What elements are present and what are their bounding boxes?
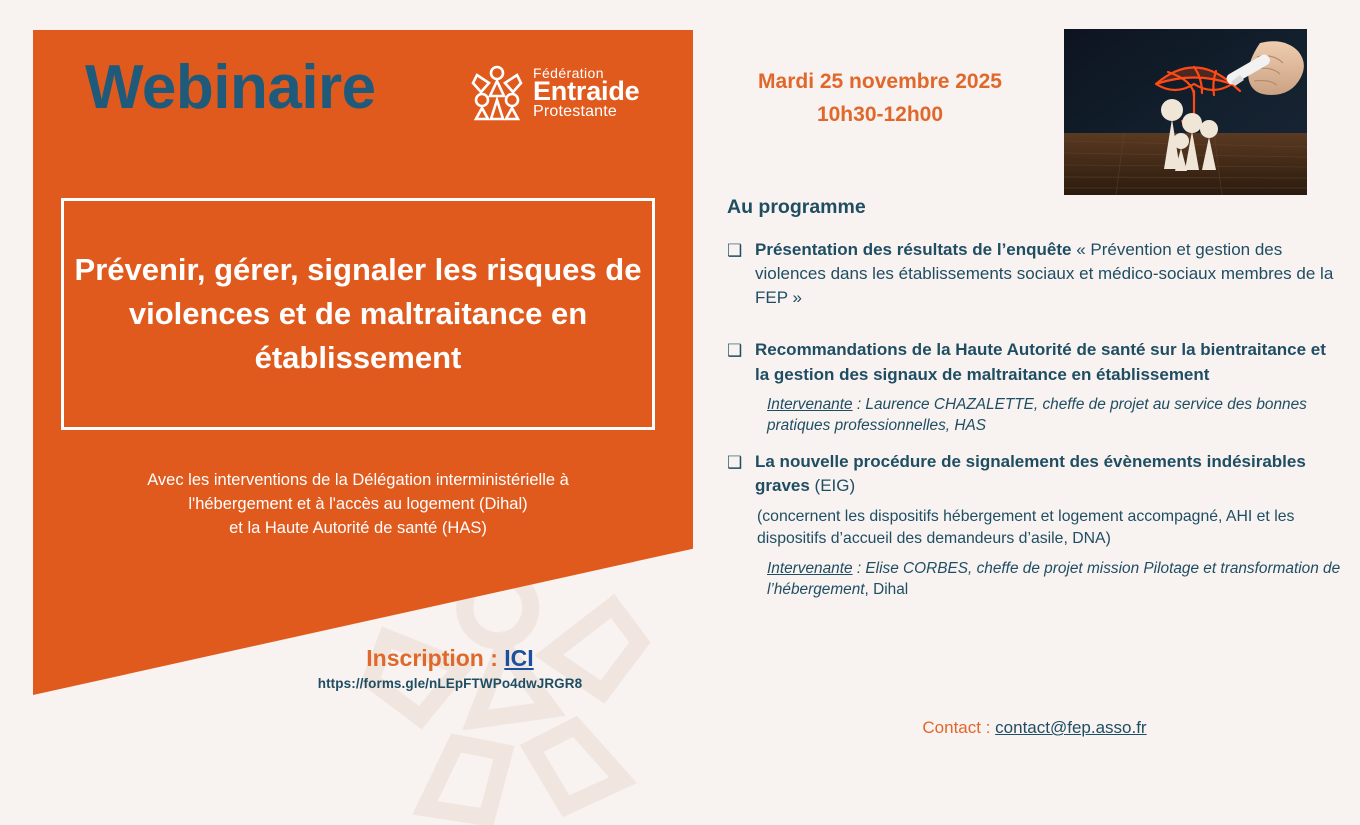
programme-item: ❑ Recommandations de la Haute Autorité d… — [727, 338, 1342, 386]
webinar-time: 10h30-12h00 — [700, 99, 1060, 132]
programme-item: ❑ Présentation des résultats de l’enquêt… — [727, 238, 1342, 310]
programme-item-text: Recommandations de la Haute Autorité de … — [755, 338, 1342, 386]
checkbox-icon: ❑ — [727, 450, 755, 475]
speaker-org: , Dihal — [865, 581, 909, 598]
intervention-note-line-2: l'hébergement et à l'accès au logement (… — [61, 492, 655, 516]
inscription-block: Inscription : ICI https://forms.gle/nLEp… — [260, 645, 640, 691]
intervention-note-line-3: et la Haute Autorité de santé (HAS) — [61, 516, 655, 540]
checkbox-icon: ❑ — [727, 338, 755, 363]
programme-speaker: Intervenante : Elise CORBES, cheffe de p… — [767, 558, 1342, 601]
left-panel-content: Webinaire Fédération Entraide Protestant… — [33, 30, 693, 695]
speaker-label: Intervenante — [767, 560, 853, 577]
webinar-headline: Prévenir, gérer, signaler les risques de… — [64, 248, 652, 380]
fep-logo-line-entraide: Entraide — [533, 78, 639, 106]
inscription-line: Inscription : ICI — [260, 645, 640, 673]
programme-section: Au programme ❑ Présentation des résultat… — [727, 196, 1342, 614]
programme-heading: Au programme — [727, 196, 1342, 219]
programme-item-text: Présentation des résultats de l’enquête … — [755, 238, 1342, 310]
speaker-label: Intervenante — [767, 396, 853, 413]
programme-item-title: Recommandations de la Haute Autorité de … — [755, 340, 1326, 383]
programme-item-detail: (EIG) — [810, 476, 855, 495]
fep-logo-line-protestante: Protestante — [533, 104, 639, 120]
checkbox-icon: ❑ — [727, 238, 755, 263]
fep-logo: Fédération Entraide Protestante — [470, 54, 660, 132]
intervention-note-line-1: Avec les interventions de la Délégation … — [61, 468, 655, 492]
programme-speaker: Intervenante : Laurence CHAZALETTE, chef… — [767, 394, 1342, 437]
inscription-link[interactable]: ICI — [504, 645, 533, 671]
webinar-date: Mardi 25 novembre 2025 — [700, 66, 1060, 99]
programme-item: ❑ La nouvelle procédure de signalement d… — [727, 450, 1342, 498]
programme-item-title: Présentation des résultats de l’enquête — [755, 240, 1071, 259]
headline-box: Prévenir, gérer, signaler les risques de… — [61, 198, 655, 430]
contact-label: Contact : — [922, 718, 995, 737]
speaker-detail: : Elise CORBES, cheffe de projet mission… — [767, 560, 1340, 598]
contact-email-link[interactable]: contact@fep.asso.fr — [995, 718, 1146, 737]
programme-item-note: (concernent les dispositifs hébergement … — [757, 506, 1342, 550]
intervention-note: Avec les interventions de la Délégation … — [61, 468, 655, 540]
fep-people-circle-icon — [470, 64, 524, 122]
programme-item-text: La nouvelle procédure de signalement des… — [755, 450, 1342, 498]
inscription-label: Inscription : — [366, 645, 504, 671]
page-title: Webinaire — [85, 57, 376, 119]
contact-line: Contact : contact@fep.asso.fr — [727, 718, 1342, 738]
inscription-url[interactable]: https://forms.gle/nLEpFTWPo4dwJRGR8 — [260, 676, 640, 691]
protection-illustration-photo — [1064, 29, 1307, 195]
fep-logo-wordmark: Fédération Entraide Protestante — [533, 66, 639, 120]
date-time-block: Mardi 25 novembre 2025 10h30-12h00 — [700, 66, 1060, 131]
